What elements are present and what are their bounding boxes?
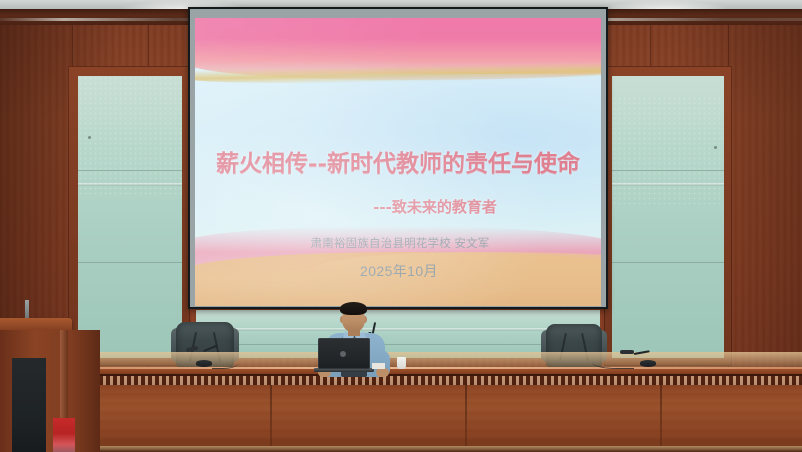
mic-base bbox=[196, 360, 212, 367]
wall-glass-panel-center bbox=[196, 310, 600, 358]
glass-divider bbox=[612, 262, 724, 263]
glass-divider bbox=[196, 344, 600, 345]
table-panel-seam bbox=[660, 385, 662, 452]
glass-texture bbox=[612, 96, 724, 206]
conference-table-front bbox=[96, 385, 802, 452]
glass-divider bbox=[78, 170, 182, 171]
slide-title: 薪火相传--新时代教师的责任与使命 bbox=[195, 144, 601, 178]
glass-divider bbox=[78, 262, 182, 263]
paper-sheet[interactable] bbox=[372, 363, 385, 369]
table-decorative-trim bbox=[96, 376, 802, 385]
table-panel-seam bbox=[270, 385, 272, 452]
presenter-hair bbox=[340, 302, 367, 315]
mic-base bbox=[640, 360, 656, 367]
ceiling-light-glow bbox=[600, 0, 730, 9]
photo-scene: 薪火相传--新时代教师的责任与使命 ---致未来的教育者 肃南裕固族自治县明花学… bbox=[0, 0, 802, 452]
podium-front-panel bbox=[12, 358, 46, 452]
table-edge-highlight bbox=[96, 367, 802, 369]
projection-screen[interactable]: 薪火相传--新时代教师的责任与使命 ---致未来的教育者 肃南裕固族自治县明花学… bbox=[188, 7, 608, 309]
panel-screw bbox=[88, 136, 91, 139]
glass-divider bbox=[612, 170, 724, 171]
slide-subtitle: ---致未来的教育者 bbox=[195, 196, 601, 217]
table-panel-seam bbox=[465, 385, 467, 452]
mic-capsule bbox=[620, 350, 634, 354]
slide-author: 肃南裕固族自治县明花学校 安文军 bbox=[195, 235, 601, 251]
podium-mic-stem bbox=[25, 300, 29, 320]
slide-date: 2025年10月 bbox=[195, 261, 601, 281]
panel-screw bbox=[714, 146, 717, 149]
slide-text-block: 薪火相传--新时代教师的责任与使命 ---致未来的教育者 肃南裕固族自治县明花学… bbox=[195, 18, 601, 306]
glass-texture bbox=[78, 76, 182, 196]
paper-cup[interactable] bbox=[397, 357, 406, 369]
red-object bbox=[53, 418, 75, 452]
presentation-slide: 薪火相传--新时代教师的责任与使命 ---致未来的教育者 肃南裕固族自治县明花学… bbox=[195, 18, 601, 306]
presenter-hand-right bbox=[376, 368, 389, 377]
table-baseboard bbox=[96, 446, 802, 452]
laptop-logo bbox=[340, 351, 346, 357]
